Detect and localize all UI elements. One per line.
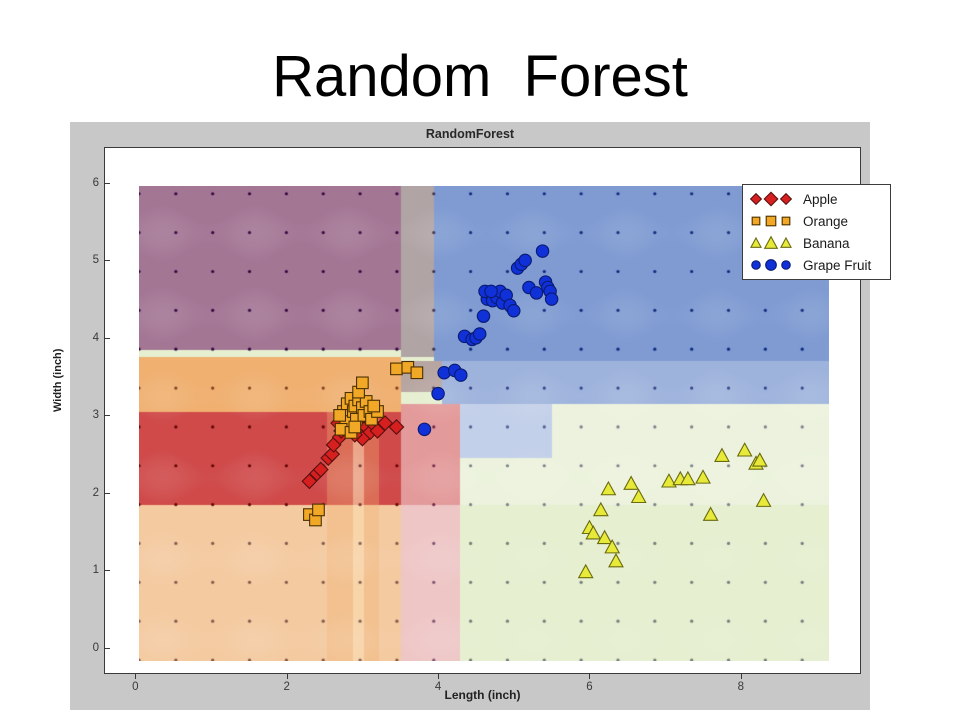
y-tick-label: 5: [81, 254, 99, 266]
y-tick-label: 0: [81, 642, 99, 654]
legend-label: Apple: [803, 192, 838, 207]
page-title: Random Forest: [0, 46, 960, 108]
grapefruit-circle-icon: [747, 255, 797, 275]
banana-triangle-icon: [747, 233, 797, 253]
y-tick-mark: [105, 493, 110, 494]
legend-label: Grape Fruit: [803, 258, 871, 273]
y-tick-mark: [105, 648, 110, 649]
matplotlib-figure: RandomForest 024680123456 Apple Orange B…: [70, 122, 870, 710]
x-tick-mark: [135, 674, 136, 679]
legend-label: Banana: [803, 236, 850, 251]
legend-item-orange[interactable]: Orange: [747, 210, 885, 232]
x-tick-mark: [438, 674, 439, 679]
x-tick-mark: [741, 674, 742, 679]
y-tick-label: 2: [81, 487, 99, 499]
legend[interactable]: Apple Orange Banana Grape Fruit: [742, 184, 891, 280]
y-tick-label: 4: [81, 332, 99, 344]
chart-title: RandomForest: [70, 127, 870, 141]
y-tick-mark: [105, 570, 110, 571]
x-tick-mark: [287, 674, 288, 679]
legend-item-apple[interactable]: Apple: [747, 188, 885, 210]
decision-region-mesh: [139, 186, 829, 661]
y-tick-label: 3: [81, 409, 99, 421]
y-tick-mark: [105, 260, 110, 261]
x-tick-mark: [589, 674, 590, 679]
apple-diamond-icon: [747, 189, 797, 209]
y-tick-label: 1: [81, 564, 99, 576]
legend-item-grape-fruit[interactable]: Grape Fruit: [747, 254, 885, 276]
y-tick-label: 6: [81, 177, 99, 189]
y-tick-mark: [105, 338, 110, 339]
y-tick-mark: [105, 415, 110, 416]
plot-axes: 024680123456 Apple Orange Banana Grape F…: [104, 147, 861, 674]
y-axis-label: Width (inch): [52, 349, 64, 412]
x-axis-label: Length (inch): [104, 688, 861, 702]
legend-label: Orange: [803, 214, 848, 229]
legend-item-banana[interactable]: Banana: [747, 232, 885, 254]
orange-square-icon: [747, 211, 797, 231]
y-tick-mark: [105, 183, 110, 184]
